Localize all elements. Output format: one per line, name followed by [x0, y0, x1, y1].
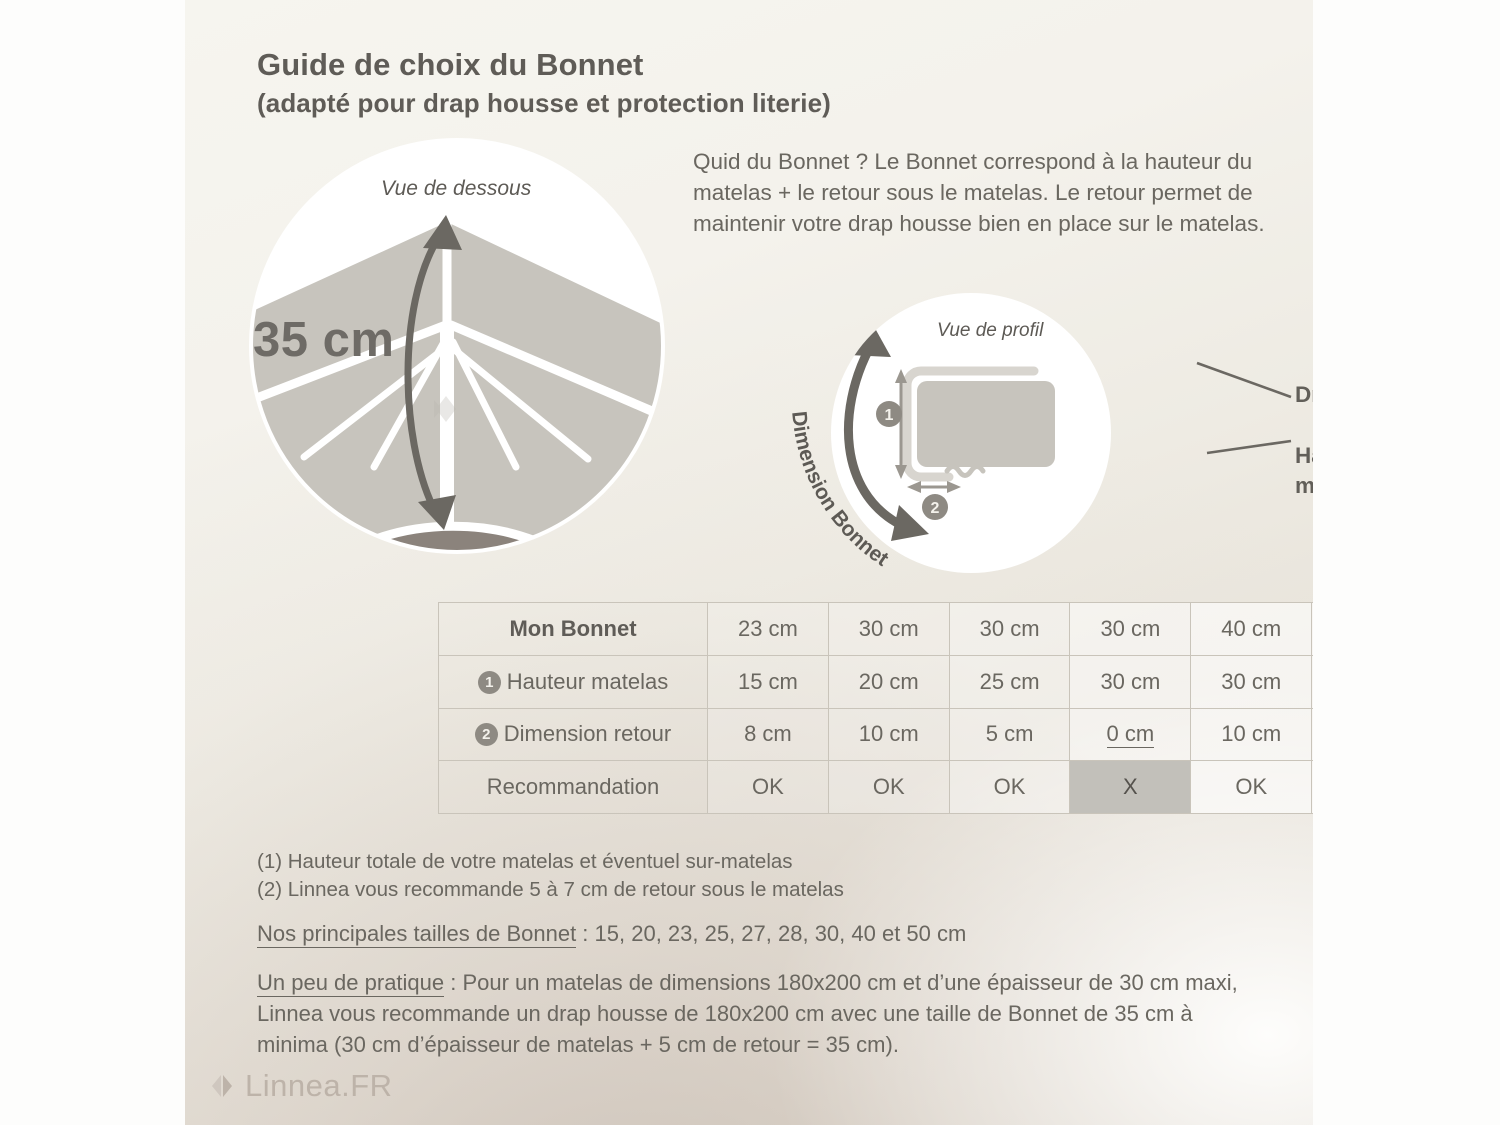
table-cell-2-0: 8 cm [708, 708, 829, 761]
table-row: Recommandation OK OK OK X OK OK [439, 761, 1314, 814]
callout-hauteur-matelas: Hauteur matelas [1295, 441, 1313, 501]
intro-paragraph: Quid du Bonnet ? Le Bonnet correspond à … [693, 146, 1273, 239]
footnote-2: (2) Linnea vous recommande 5 à 7 cm de r… [257, 876, 844, 904]
sizes-line: Nos principales tailles de Bonnet : 15, … [257, 918, 966, 949]
sizes-line-label: Nos principales tailles de Bonnet [257, 921, 576, 948]
table-cell-0-3: 30 cm [1070, 603, 1191, 656]
table-cell-2-4: 10 cm [1191, 708, 1312, 761]
table-cell-1-0: 15 cm [708, 655, 829, 708]
callout-hauteur-line2: matelas [1295, 473, 1313, 498]
table-row: Mon Bonnet 23 cm 30 cm 30 cm 30 cm 40 cm… [439, 603, 1314, 656]
table-cell-2-3-text: 0 cm [1107, 721, 1155, 748]
bonnet-table-element: Mon Bonnet 23 cm 30 cm 30 cm 30 cm 40 cm… [438, 602, 1313, 814]
row-label-text-3: Recommandation [487, 774, 659, 799]
table-cell-1-3: 30 cm [1070, 655, 1191, 708]
row-label-text-0: Mon Bonnet [509, 616, 636, 641]
table-cell-3-0: OK [708, 761, 829, 814]
table-cell-1-4: 30 cm [1191, 655, 1312, 708]
page-title: Guide de choix du Bonnet [257, 47, 643, 83]
table-row-label-1: 1Hauteur matelas [439, 655, 708, 708]
bottom-view-caption: Vue de dessous [381, 177, 531, 201]
poster-panel: Guide de choix du Bonnet (adapté pour dr… [185, 0, 1313, 1125]
table-row: 1Hauteur matelas 15 cm 20 cm 25 cm 30 cm… [439, 655, 1314, 708]
callout-hauteur-line1: Hauteur [1295, 443, 1313, 468]
table-row-label-3: Recommandation [439, 761, 708, 814]
callout-drap-housse: Drap housse [1295, 382, 1313, 408]
bottom-view-diagram: Vue de dessous 35 cm [248, 137, 666, 555]
table-row-label-0: Mon Bonnet [439, 603, 708, 656]
table-cell-0-2: 30 cm [949, 603, 1070, 656]
table-cell-0-4: 40 cm [1191, 603, 1312, 656]
row-label-text-2: Dimension retour [504, 721, 672, 746]
table-row: 2Dimension retour 8 cm 10 cm 5 cm 0 cm 1… [439, 708, 1314, 761]
table-cell-2-5: 10 cm [1312, 708, 1313, 761]
table-cell-3-5: OK [1312, 761, 1313, 814]
footnote-1: (1) Hauteur totale de votre matelas et é… [257, 848, 793, 876]
table-cell-3-4: OK [1191, 761, 1312, 814]
table-cell-1-5: 40 cm [1312, 655, 1313, 708]
poster-canvas: Guide de choix du Bonnet (adapté pour dr… [0, 0, 1500, 1125]
table-cell-1-2: 25 cm [949, 655, 1070, 708]
row-label-text-1: Hauteur matelas [507, 669, 668, 694]
table-row-label-2: 2Dimension retour [439, 708, 708, 761]
page-subtitle: (adapté pour drap housse et protection l… [257, 88, 831, 119]
table-cell-1-1: 20 cm [828, 655, 949, 708]
table-cell-2-2: 5 cm [949, 708, 1070, 761]
table-cell-0-5: 50 cm [1312, 603, 1313, 656]
logo-text: Linnea.FR [245, 1068, 393, 1104]
table-cell-2-3: 0 cm [1070, 708, 1191, 761]
bonnet-measure-label: 35 cm [253, 312, 394, 368]
practice-label: Un peu de pratique [257, 970, 444, 997]
linnea-logo[interactable]: Linnea.FR [210, 1068, 393, 1104]
table-cell-0-0: 23 cm [708, 603, 829, 656]
table-cell-3-2: OK [949, 761, 1070, 814]
practice-paragraph: Un peu de pratique : Pour un matelas de … [257, 967, 1267, 1060]
sizes-line-rest: : 15, 20, 23, 25, 27, 28, 30, 40 et 50 c… [576, 921, 966, 946]
svg-text:Dimension Bonnet: Dimension Bonnet [787, 410, 892, 571]
diamond-icon [210, 1073, 234, 1099]
table-cell-3-3-highlighted: X [1070, 761, 1191, 814]
profile-view-caption: Vue de profil [937, 320, 1043, 342]
table-cell-0-1: 30 cm [828, 603, 949, 656]
dimension-bonnet-arc-text: Dimension Bonnet [787, 410, 892, 571]
table-cell-2-1: 10 cm [828, 708, 949, 761]
table-cell-3-1: OK [828, 761, 949, 814]
marker-1-badge: 1 [478, 671, 501, 694]
marker-2-badge: 2 [475, 723, 498, 746]
bonnet-table: Mon Bonnet 23 cm 30 cm 30 cm 30 cm 40 cm… [438, 602, 1313, 813]
